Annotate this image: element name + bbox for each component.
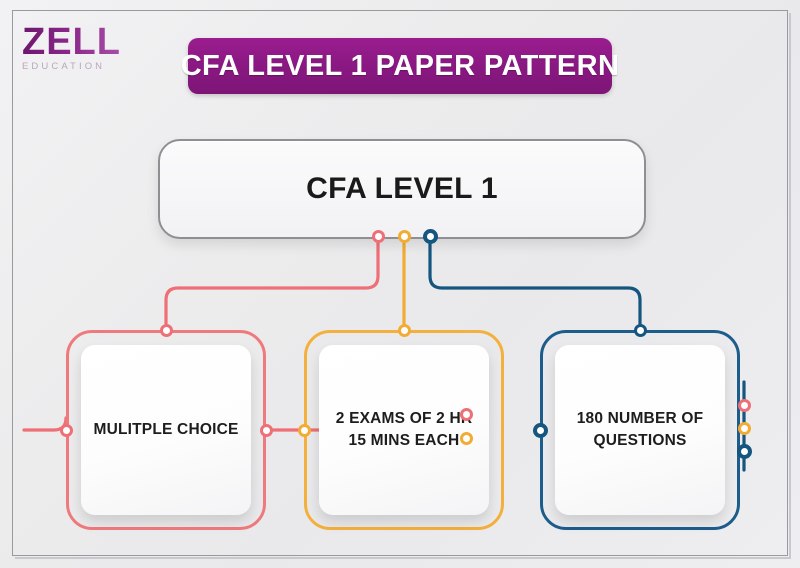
root-node-card: CFA LEVEL 1 — [158, 139, 646, 239]
hub-dot-orange — [398, 230, 411, 243]
page-title: CFA LEVEL 1 PAPER PATTERN — [181, 50, 620, 83]
side-dot-blue — [737, 444, 752, 459]
infographic-canvas: ZELL EDUCATION CFA LEVEL 1 PAPER PATTERN… — [0, 0, 800, 568]
branch-label: 2 EXAMS OF 2 HR 15 MINS EACH — [327, 408, 481, 452]
logo-wordmark: ZELL — [22, 24, 137, 60]
branch-0-right-dot-pink — [260, 424, 273, 437]
branch-label: 180 NUMBER OF QUESTIONS — [563, 408, 717, 452]
branch-1-right-dot-orange — [460, 432, 473, 445]
root-node-label: CFA LEVEL 1 — [306, 172, 498, 206]
branch-2-left-dot-blue — [533, 423, 548, 438]
branch-card-multiple-choice[interactable]: MULITPLE CHOICE — [66, 330, 266, 530]
branch-0-left-dot-pink — [60, 424, 73, 437]
branch-card-inner: MULITPLE CHOICE — [81, 345, 251, 515]
branch-label: MULITPLE CHOICE — [93, 419, 238, 441]
branch-card-inner: 2 EXAMS OF 2 HR 15 MINS EACH — [319, 345, 489, 515]
branch-1-right-dot-pink — [460, 408, 473, 421]
hub-dot-pink — [372, 230, 385, 243]
branch-1-top-dot-orange — [398, 324, 411, 337]
branch-1-left-dot-orange — [298, 424, 311, 437]
branch-0-top-dot-pink — [160, 324, 173, 337]
hub-dot-blue — [423, 229, 438, 244]
zell-education-logo: ZELL EDUCATION — [22, 24, 137, 72]
side-dot-orange — [738, 422, 751, 435]
branch-card-inner: 180 NUMBER OF QUESTIONS — [555, 345, 725, 515]
side-dot-pink — [738, 399, 751, 412]
title-banner: CFA LEVEL 1 PAPER PATTERN — [188, 38, 612, 94]
branch-card-question-count[interactable]: 180 NUMBER OF QUESTIONS — [540, 330, 740, 530]
branch-2-top-dot-blue — [634, 324, 647, 337]
branch-card-exam-duration[interactable]: 2 EXAMS OF 2 HR 15 MINS EACH — [304, 330, 504, 530]
